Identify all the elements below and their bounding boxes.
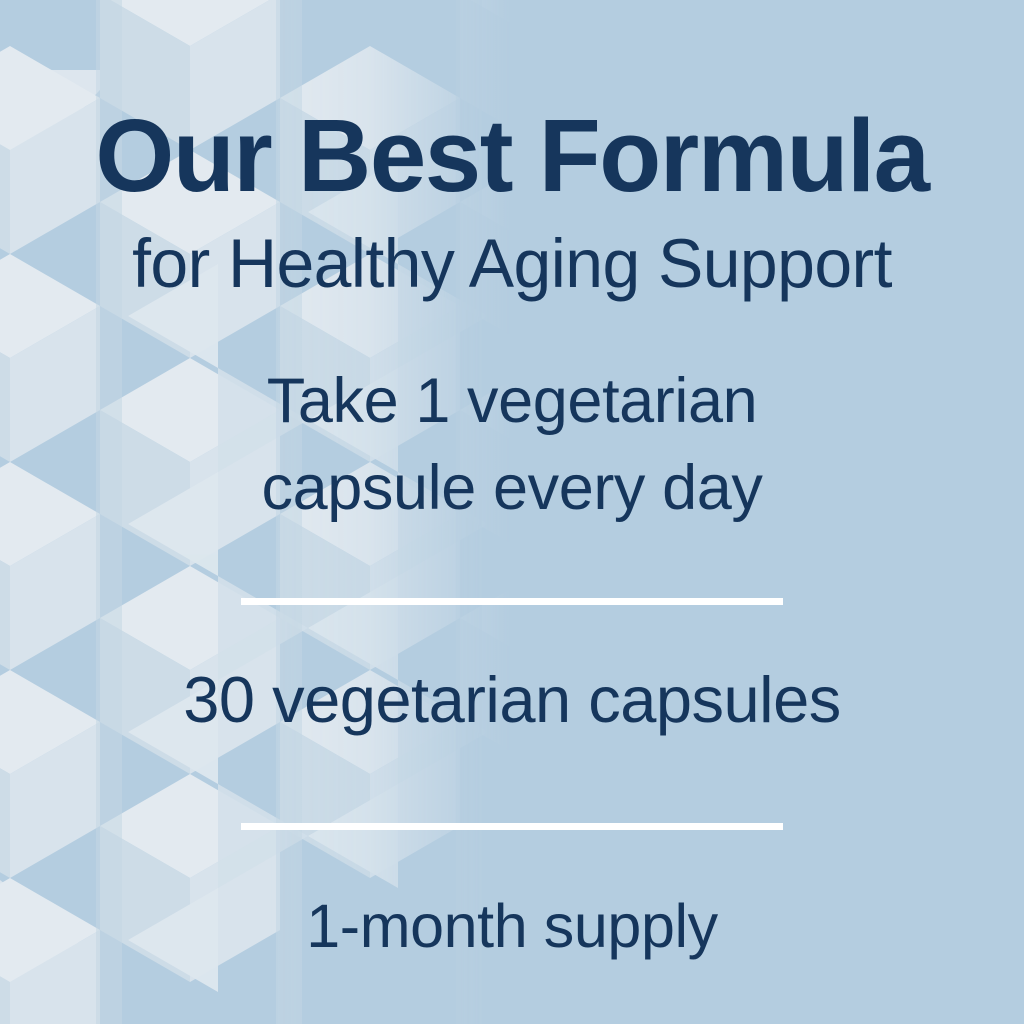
page-subtitle: for Healthy Aging Support (8, 229, 1017, 298)
page-title: Our Best Formula (8, 104, 1017, 207)
divider-bottom (241, 823, 783, 830)
content-stack: Our Best Formula for Healthy Aging Suppo… (0, 0, 1024, 1024)
supply-duration: 1-month supply (0, 896, 1024, 957)
divider-top (241, 598, 783, 605)
product-info-panel: Our Best Formula for Healthy Aging Suppo… (0, 0, 1024, 1024)
capsule-count: 30 vegetarian capsules (0, 667, 1024, 732)
dosage-instruction: Take 1 vegetarian capsule every day (162, 358, 862, 532)
